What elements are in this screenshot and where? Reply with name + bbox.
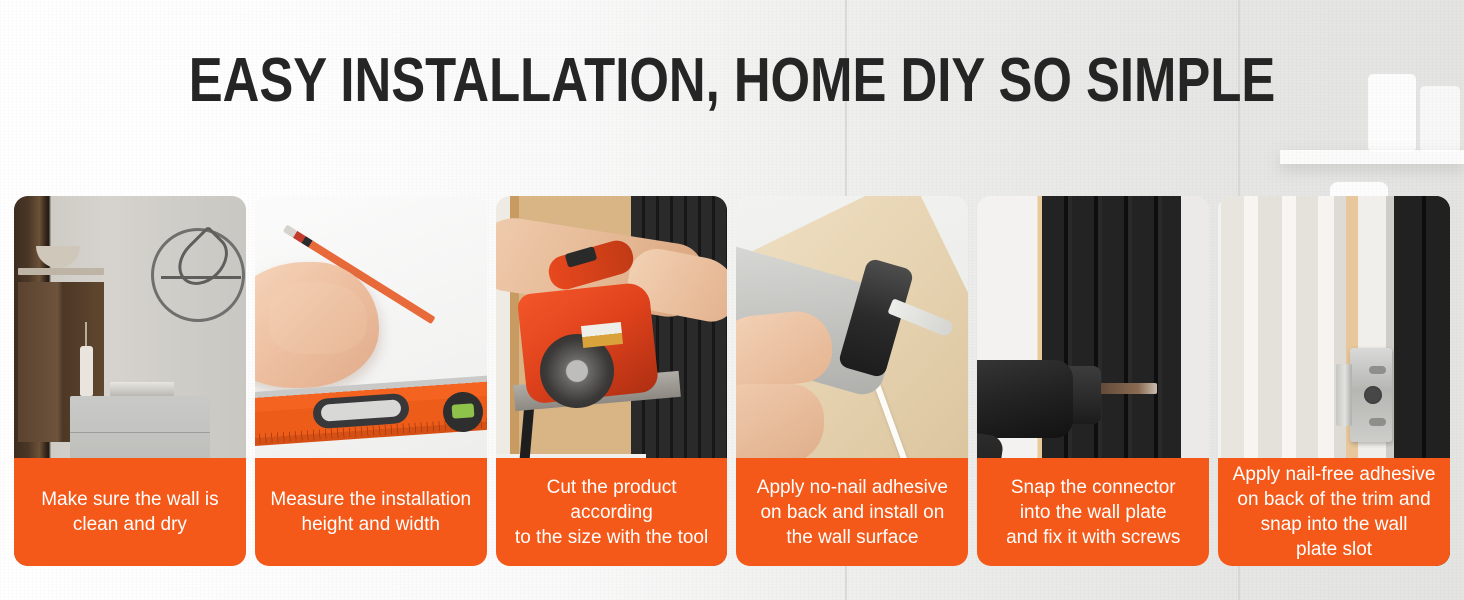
level-bubble [451,403,474,419]
step-card-3[interactable]: Cut the product according to the size wi… [496,196,728,566]
step-3-caption: Cut the product according to the size wi… [496,458,728,566]
water-drop-shape [169,226,238,295]
step-card-1[interactable]: Make sure the wall is clean and dry [14,196,246,566]
background-jar-right [1420,86,1460,152]
step-4-caption: Apply no-nail adhesive on back and insta… [736,458,968,566]
fingers-shape [736,384,824,464]
cabinet-bowl [36,246,80,268]
saw-label [581,322,623,348]
clip-slot-top [1369,366,1386,374]
decor-vase [80,346,93,396]
background-shelf [1280,150,1464,164]
decor-twig [85,322,87,348]
hand-knuckles [269,282,367,354]
clip-slot-bottom [1369,418,1386,426]
page-title: EASY INSTALLATION, HOME DIY SO SIMPLE [132,48,1332,114]
steps-strip: Make sure the wall is clean and dry Meas… [14,196,1450,566]
step-6-caption: Apply nail-free adhesive on back of the … [1218,458,1450,566]
promo-banner: EASY INSTALLATION, HOME DIY SO SIMPLE [0,0,1464,600]
drill-icon [977,360,1073,438]
step-card-5[interactable]: Snap the connector into the wall plate a… [977,196,1209,566]
strike-through-bar [161,276,241,279]
step-5-caption: Snap the connector into the wall plate a… [977,458,1209,566]
background-jar-left [1368,74,1416,152]
step-card-4[interactable]: Apply no-nail adhesive on back and insta… [736,196,968,566]
step-2-caption: Measure the installation height and widt… [255,458,487,566]
screwdriver-bit [1095,383,1157,394]
step-card-2[interactable]: Measure the installation height and widt… [255,196,487,566]
step-1-caption: Make sure the wall is clean and dry [14,458,246,566]
step-card-6[interactable]: Apply nail-free adhesive on back of the … [1218,196,1450,566]
sideboard-seam [70,432,210,433]
no-water-drop-icon [151,228,245,322]
clip-spring-tab [1336,364,1352,426]
cabinet-shelf [18,268,104,275]
decor-books [110,382,174,396]
